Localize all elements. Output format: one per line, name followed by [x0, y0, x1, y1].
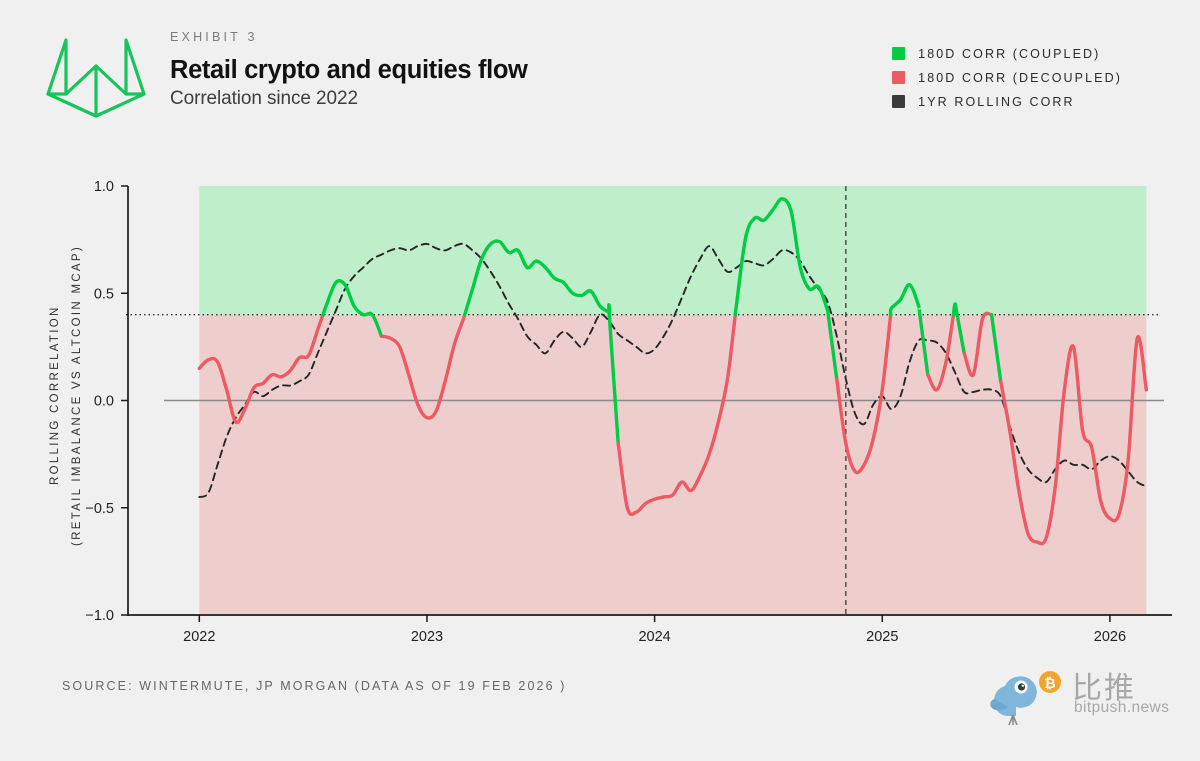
- y-axis-tick-label: 0.0: [94, 394, 114, 410]
- exhibit-label: EXHIBIT 3: [170, 30, 528, 44]
- x-axis-tick-label: 2025: [866, 629, 898, 645]
- y-axis-tick-label: −0.5: [85, 501, 114, 517]
- y-axis-tick-label: 0.5: [94, 286, 114, 302]
- legend-item-decoupled: 180D CORR (DECOUPLED): [892, 66, 1122, 89]
- x-axis-tick-label: 2024: [638, 629, 670, 645]
- bird-icon: ₿: [988, 669, 1072, 725]
- legend-label-decoupled: 180D CORR (DECOUPLED): [918, 71, 1122, 85]
- y-axis-tick-label: −1.0: [85, 608, 114, 624]
- page-subtitle: Correlation since 2022: [170, 88, 528, 111]
- watermark-url: bitpush.news: [1074, 699, 1169, 717]
- wintermute-logo: [42, 30, 150, 122]
- page-title: Retail crypto and equities flow: [170, 56, 528, 85]
- y-axis-tick-label: 1.0: [94, 179, 114, 195]
- legend-item-rolling: 1YR ROLLING CORR: [892, 90, 1122, 113]
- header: EXHIBIT 3 Retail crypto and equities flo…: [0, 0, 1200, 150]
- title-block: EXHIBIT 3 Retail crypto and equities flo…: [170, 30, 528, 110]
- x-axis-tick-label: 2023: [411, 629, 443, 645]
- x-axis-tick-label: 2026: [1094, 629, 1126, 645]
- legend-swatch-decoupled-icon: [892, 71, 905, 84]
- legend-swatch-rolling-icon: [892, 95, 905, 108]
- legend-swatch-coupled-icon: [892, 47, 905, 60]
- footer: SOURCE: WINTERMUTE, JP MORGAN (DATA AS O…: [0, 661, 1200, 761]
- chart-canvas: −1.0−0.50.00.51.020222023202420252026: [0, 150, 1200, 660]
- correlation-line-chart: −1.0−0.50.00.51.020222023202420252026: [0, 150, 1200, 660]
- source-note: SOURCE: WINTERMUTE, JP MORGAN (DATA AS O…: [62, 679, 566, 693]
- legend-label-coupled: 180D CORR (COUPLED): [918, 47, 1100, 61]
- decoupled-shading-band: [199, 315, 1146, 615]
- legend-label-rolling: 1YR ROLLING CORR: [918, 95, 1075, 109]
- svg-text:₿: ₿: [1044, 676, 1055, 692]
- x-axis-tick-label: 2022: [183, 629, 215, 645]
- legend-item-coupled: 180D CORR (COUPLED): [892, 42, 1122, 65]
- bitpush-watermark: ₿ 比推 bitpush.news: [988, 661, 1188, 731]
- chart-legend: 180D CORR (COUPLED) 180D CORR (DECOUPLED…: [892, 42, 1122, 114]
- exhibit-page: EXHIBIT 3 Retail crypto and equities flo…: [0, 0, 1200, 761]
